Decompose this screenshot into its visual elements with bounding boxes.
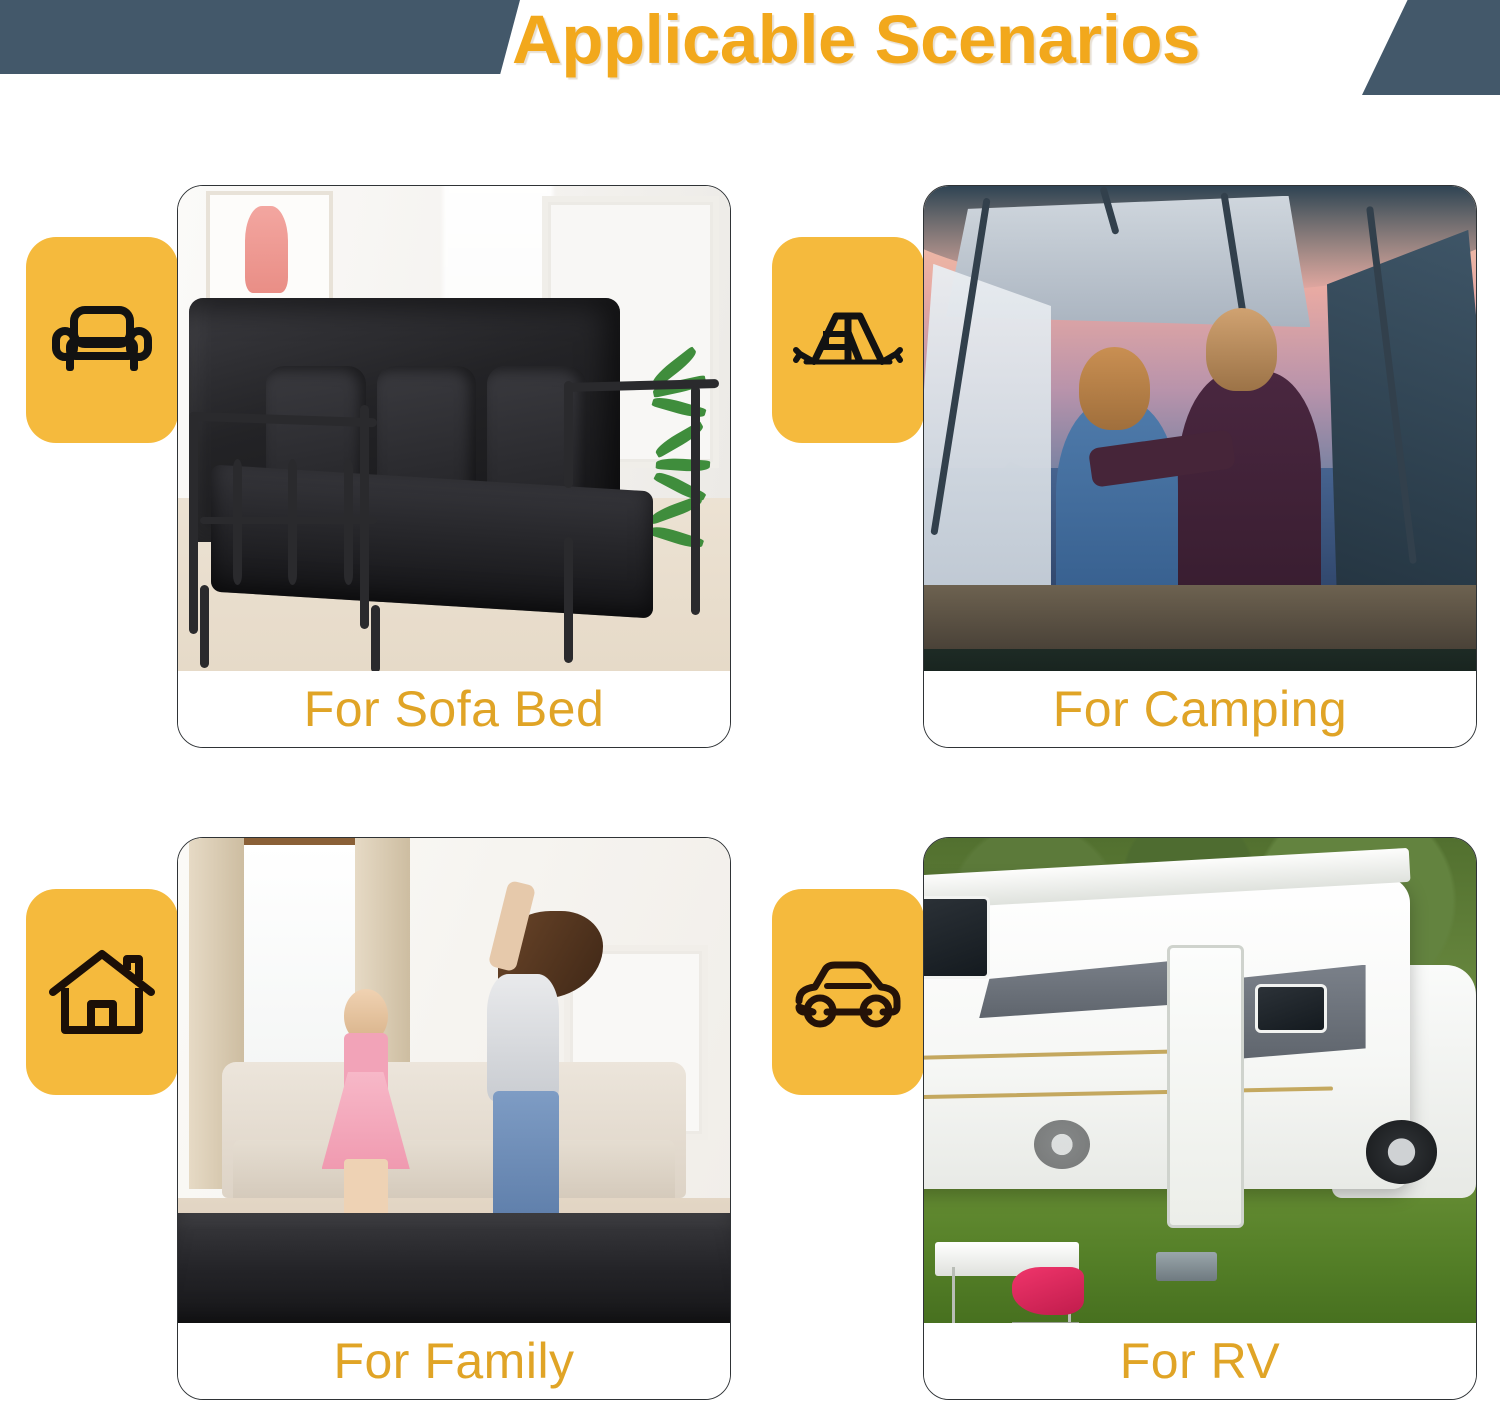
page-title: Applicable Scenarios xyxy=(512,0,1412,83)
photo-sofa-bed xyxy=(178,186,730,673)
card-label-camping: For Camping xyxy=(924,671,1476,747)
card-rv[interactable]: For RV xyxy=(923,837,1477,1400)
card-camping[interactable]: For Camping xyxy=(923,185,1477,748)
scenario-card-rv: For RV xyxy=(772,837,1472,1403)
house-icon-badge xyxy=(26,889,178,1095)
sofa-icon xyxy=(50,301,154,379)
photo-family xyxy=(178,838,730,1325)
card-label-family: For Family xyxy=(178,1323,730,1399)
house-icon xyxy=(49,946,155,1038)
car-icon xyxy=(791,955,905,1029)
card-label-sofa-bed: For Sofa Bed xyxy=(178,671,730,747)
scenario-card-camping: For Camping xyxy=(772,185,1472,755)
scenario-grid: For Sofa Bed xyxy=(0,100,1500,1403)
photo-rv xyxy=(924,838,1476,1325)
tent-icon-badge xyxy=(772,237,924,443)
sofa-icon-badge xyxy=(26,237,178,443)
scenario-card-sofa-bed: For Sofa Bed xyxy=(26,185,726,755)
card-sofa-bed[interactable]: For Sofa Bed xyxy=(177,185,731,748)
header-band-left xyxy=(0,0,520,74)
applicable-scenarios-infographic: Applicable Scenarios xyxy=(0,0,1500,1403)
tent-icon xyxy=(792,304,904,376)
car-icon-badge xyxy=(772,889,924,1095)
photo-camping xyxy=(924,186,1476,673)
header-banner: Applicable Scenarios xyxy=(0,0,1500,100)
card-label-rv: For RV xyxy=(924,1323,1476,1399)
scenario-card-family: For Family xyxy=(26,837,726,1403)
card-family[interactable]: For Family xyxy=(177,837,731,1400)
